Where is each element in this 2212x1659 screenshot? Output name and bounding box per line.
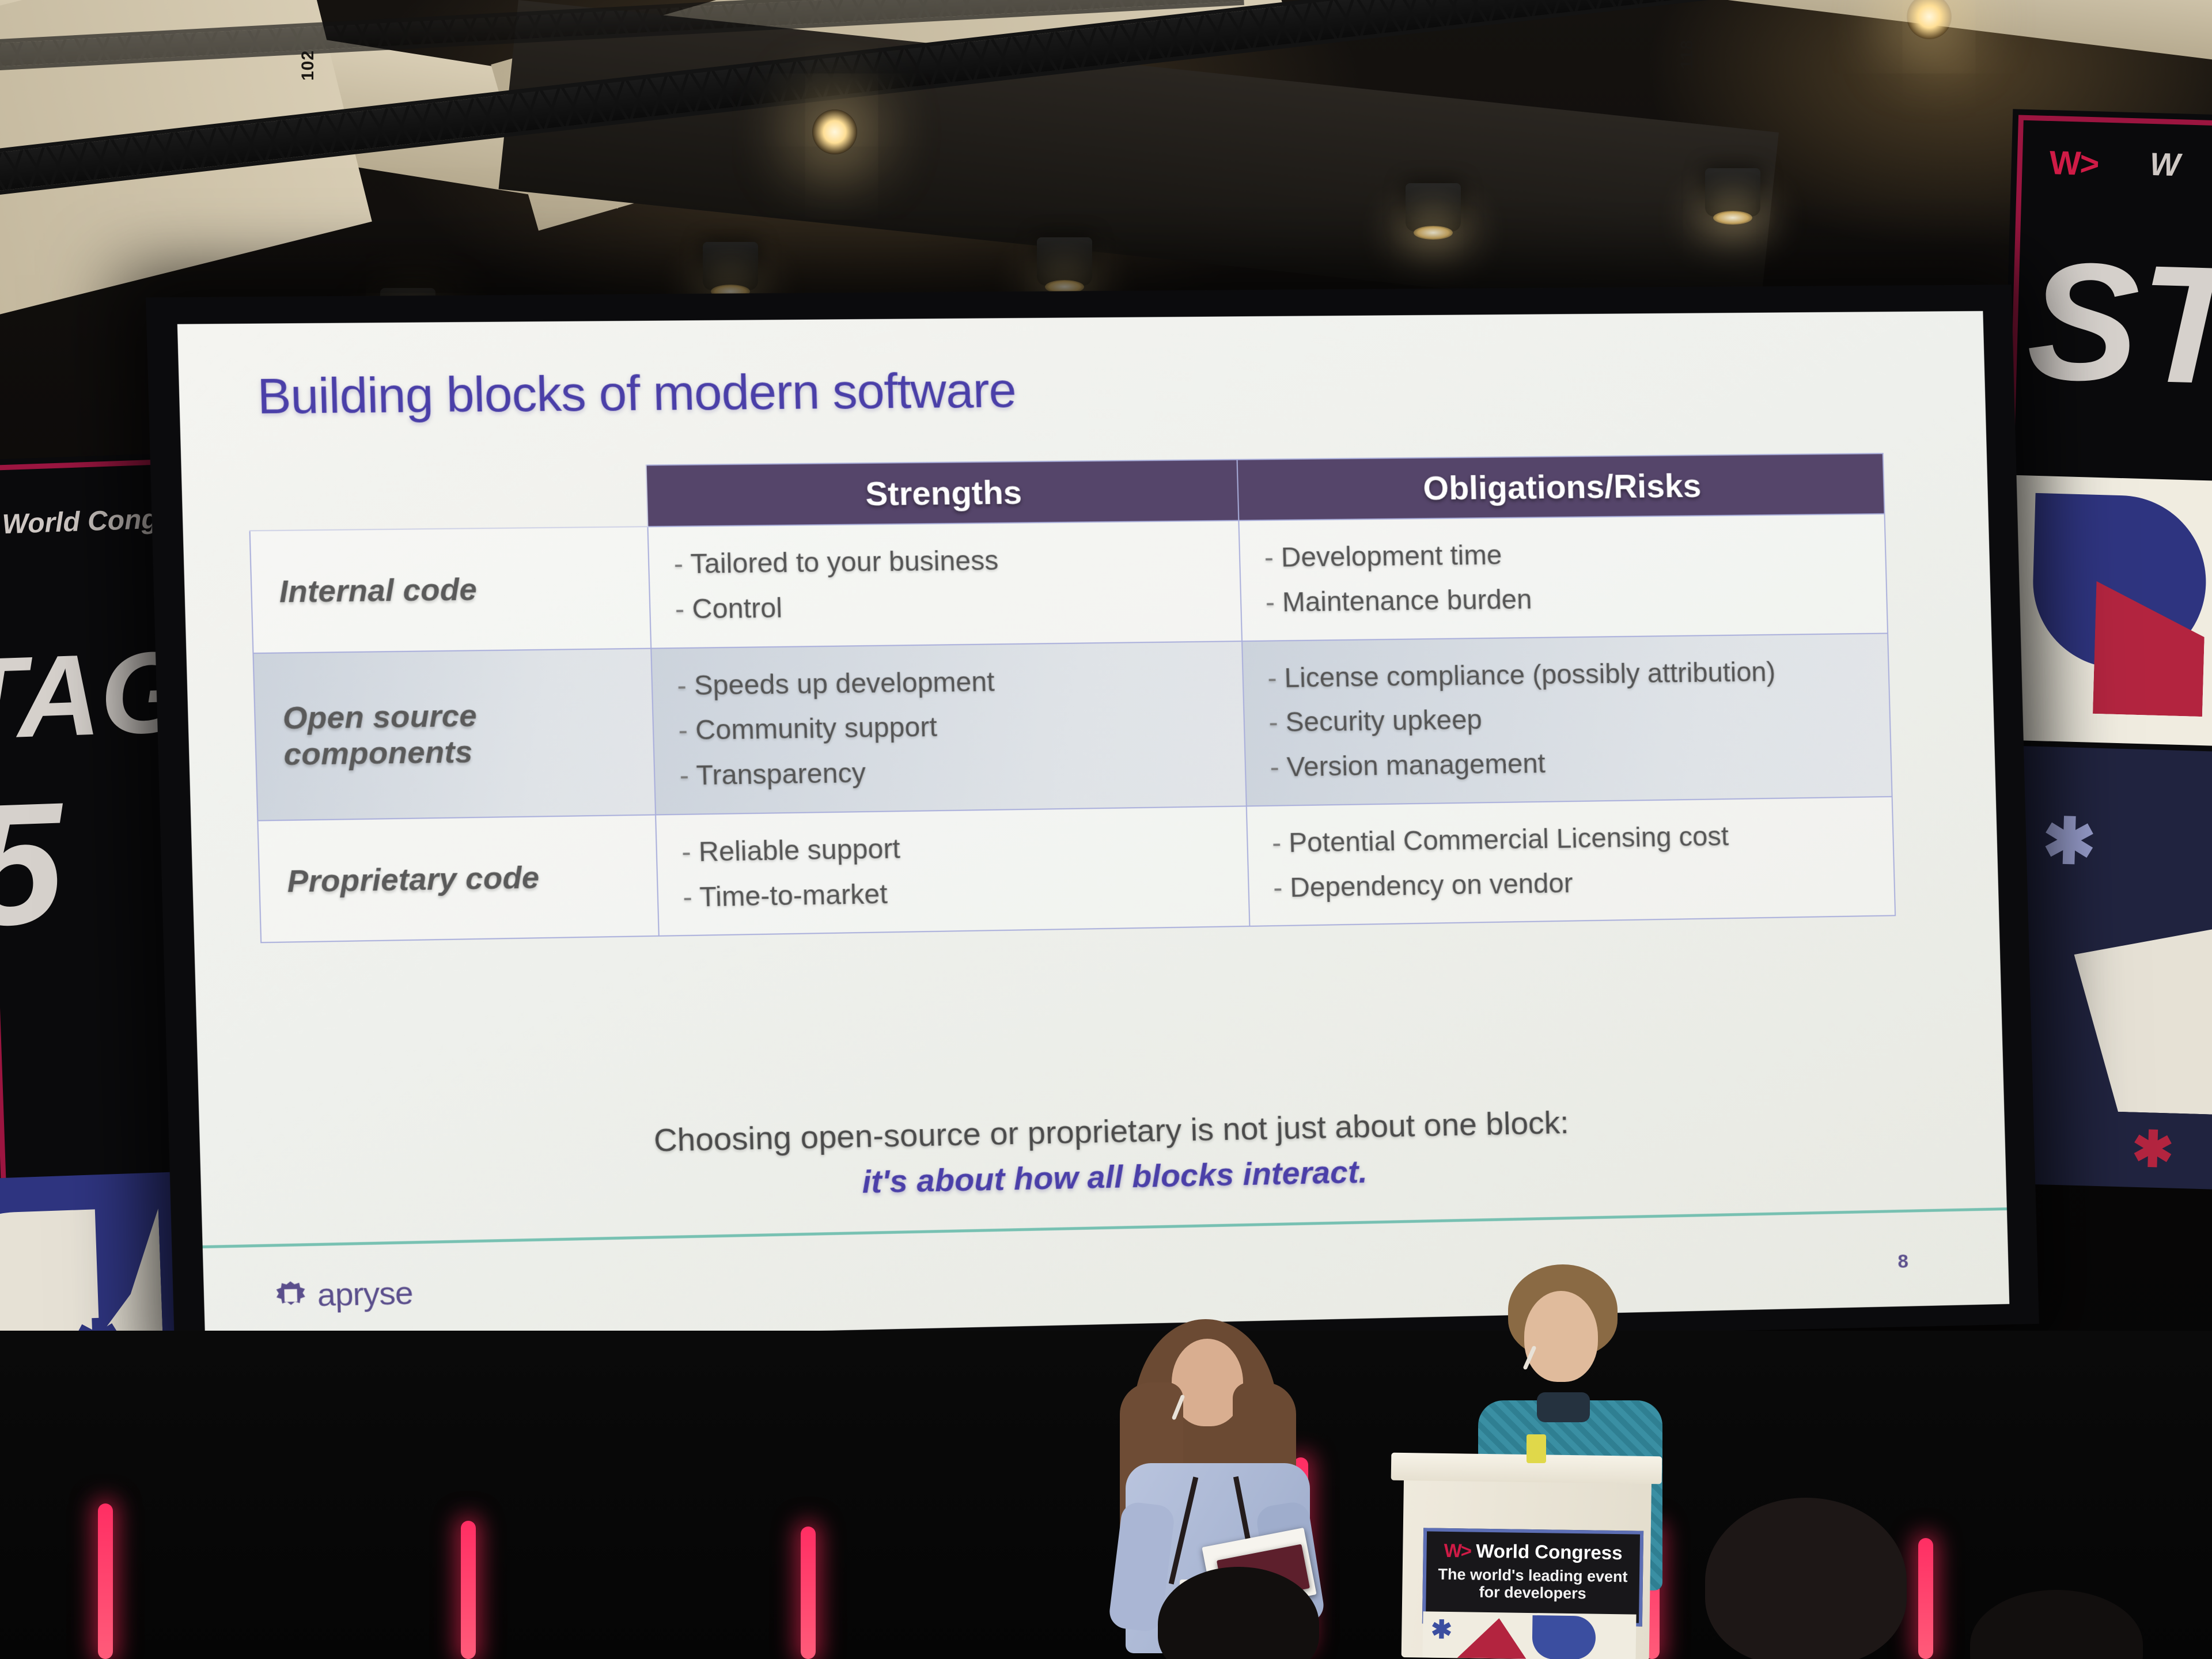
- list-item: Dependency on vendor: [1272, 856, 1883, 910]
- cell-obligations: Potential Commercial Licensing cost Depe…: [1247, 797, 1895, 926]
- graphic-shape: [1457, 1618, 1527, 1659]
- cell-strengths: Speeds up development Community support …: [651, 641, 1247, 815]
- stage-light: [703, 242, 758, 290]
- conference-stage-scene: 102 118 W> World Congress TAGE 5 ✱ W> W …: [0, 0, 2212, 1659]
- footer-rule: [203, 1207, 2007, 1248]
- table-row: Internal code Tailored to your business …: [250, 514, 1888, 653]
- neon-tube: [98, 1503, 113, 1659]
- drink-cup: [1527, 1434, 1546, 1463]
- neon-tube: [801, 1527, 816, 1659]
- list-item: Reliable support: [681, 821, 1236, 875]
- bullet-list: Development time Maintenance burden: [1264, 529, 1876, 625]
- podium-tagline-1: The world's leading event: [1438, 1566, 1627, 1586]
- list-item: Version management: [1270, 737, 1880, 790]
- ceiling-bulb: [812, 109, 857, 154]
- list-item: Time-to-market: [682, 866, 1237, 920]
- presentation-slide: Building blocks of modern software Stren…: [177, 311, 2010, 1344]
- table-header-strengths: Strengths: [646, 460, 1239, 527]
- table-header-obligations: Obligations/Risks: [1237, 453, 1885, 520]
- asterisk-icon: ✱: [2131, 1130, 2174, 1171]
- cell-obligations: License compliance (possibly attribution…: [1242, 633, 1892, 806]
- graphic-shape: [2070, 921, 2212, 1115]
- stage-light: [1037, 237, 1092, 286]
- bullet-list: License compliance (possibly attribution…: [1267, 649, 1880, 790]
- neon-tube: [461, 1521, 476, 1659]
- list-item: Speeds up development: [676, 657, 1231, 709]
- row-label-open-source-components: Open source components: [253, 648, 656, 820]
- stage-light: [1406, 183, 1461, 232]
- brand-logo: apryse: [274, 1274, 413, 1315]
- table-row: Open source components Speeds up develop…: [253, 633, 1892, 820]
- list-item: Maintenance burden: [1265, 574, 1876, 625]
- table-row: Proprietary code Reliable support Time-t…: [257, 797, 1895, 943]
- head: [1524, 1291, 1598, 1382]
- ceiling-beam-label-102: 102: [298, 50, 318, 81]
- asterisk-icon: ✱: [2042, 816, 2097, 868]
- slide-caption: Choosing open-source or proprietary is n…: [199, 1095, 2006, 1214]
- right-banner-stage-partial: ST: [2025, 225, 2212, 422]
- list-item: Security upkeep: [1268, 693, 1879, 745]
- graphic-shape: [1532, 1615, 1596, 1659]
- audience-head: [1705, 1498, 1907, 1659]
- apryse-gear-icon: [274, 1279, 307, 1311]
- bullet-list: Speeds up development Community support …: [676, 657, 1234, 799]
- slide-title: Building blocks of modern software: [256, 362, 1017, 426]
- ceiling-bulb: [1907, 0, 1952, 39]
- bullet-list: Reliable support Time-to-market: [681, 821, 1237, 920]
- podium-tagline-2: for developers: [1479, 1584, 1586, 1603]
- podium-sign-title-row: W> World Congress: [1444, 1540, 1622, 1564]
- row-label-proprietary-code: Proprietary code: [257, 815, 658, 942]
- page-number: 8: [1897, 1251, 1908, 1273]
- comparison-table: Strengths Obligations/Risks Internal cod…: [248, 453, 1896, 943]
- bullet-list: Potential Commercial Licensing cost Depe…: [1271, 812, 1883, 911]
- asterisk-icon: ✱: [1431, 1620, 1452, 1641]
- stage-light: [1705, 168, 1760, 217]
- cell-strengths: Reliable support Time-to-market: [656, 806, 1249, 936]
- left-banner-stage-number: 5: [0, 763, 66, 965]
- podium-sign-title: World Congress: [1476, 1540, 1623, 1564]
- collar: [1537, 1392, 1590, 1422]
- neon-tube: [1918, 1538, 1933, 1659]
- bullet-list: Tailored to your business Control: [673, 536, 1230, 632]
- right-banner-event-partial: W: [2149, 145, 2181, 183]
- brand-name: apryse: [317, 1274, 413, 1313]
- projection-screen: Building blocks of modern software Stren…: [146, 285, 2039, 1366]
- list-item: License compliance (possibly attribution…: [1267, 649, 1878, 701]
- table-header-empty: [248, 465, 648, 531]
- wc-logo-mark-podium: W>: [1444, 1540, 1471, 1562]
- list-item: Community support: [678, 701, 1233, 753]
- cell-obligations: Development time Maintenance burden: [1238, 514, 1888, 641]
- list-item: Development time: [1264, 529, 1874, 581]
- row-label-internal-code: Internal code: [250, 527, 652, 653]
- podium-graphic: ✱: [1422, 1611, 1636, 1659]
- wc-logo-mark-right: W>: [2049, 143, 2099, 183]
- right-banner-graphic: [2006, 475, 2212, 746]
- list-item: Transparency: [679, 746, 1234, 798]
- cell-strengths: Tailored to your business Control: [647, 521, 1242, 649]
- list-item: Control: [675, 581, 1230, 632]
- list-item: Tailored to your business: [673, 536, 1229, 587]
- ceiling-beam-label-118: 118: [1677, 40, 1697, 69]
